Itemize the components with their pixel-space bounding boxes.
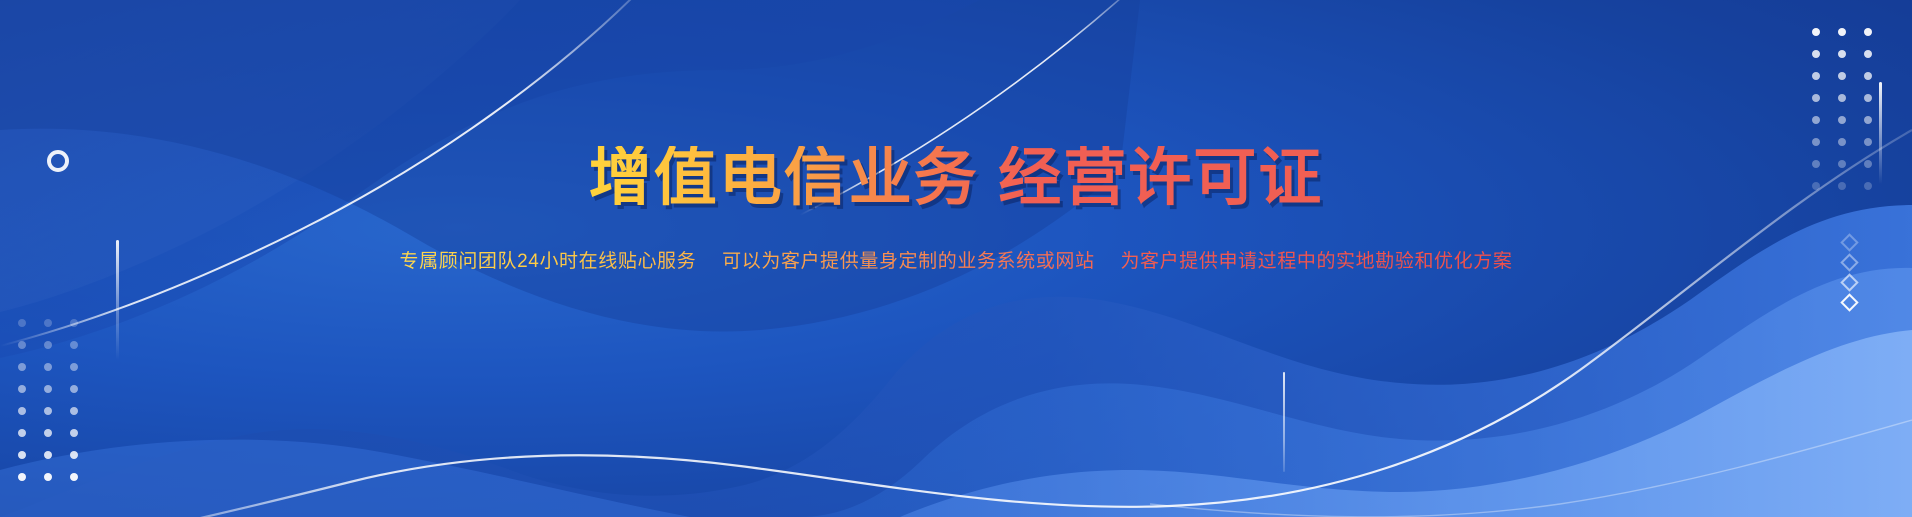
banner-subtitle-item: 为客户提供申请过程中的实地勘验和优化方案 <box>1120 251 1512 272</box>
banner-subtitle-item: 专属顾问团队24小时在线贴心服务 <box>400 251 697 272</box>
banner-content: 增值电信业务 经营许可证 专属顾问团队24小时在线贴心服务 可以为客户提供量身定… <box>0 0 1912 517</box>
banner-headline: 增值电信业务 经营许可证 <box>589 146 1324 210</box>
subtitle-separator <box>696 251 722 272</box>
promo-banner: 增值电信业务 经营许可证 专属顾问团队24小时在线贴心服务 可以为客户提供量身定… <box>0 0 1912 517</box>
banner-subtitle-row: 专属顾问团队24小时在线贴心服务 可以为客户提供量身定制的业务系统或网站 为客户… <box>400 246 1513 273</box>
subtitle-separator <box>1095 251 1121 272</box>
banner-subtitle-item: 可以为客户提供量身定制的业务系统或网站 <box>722 251 1094 272</box>
